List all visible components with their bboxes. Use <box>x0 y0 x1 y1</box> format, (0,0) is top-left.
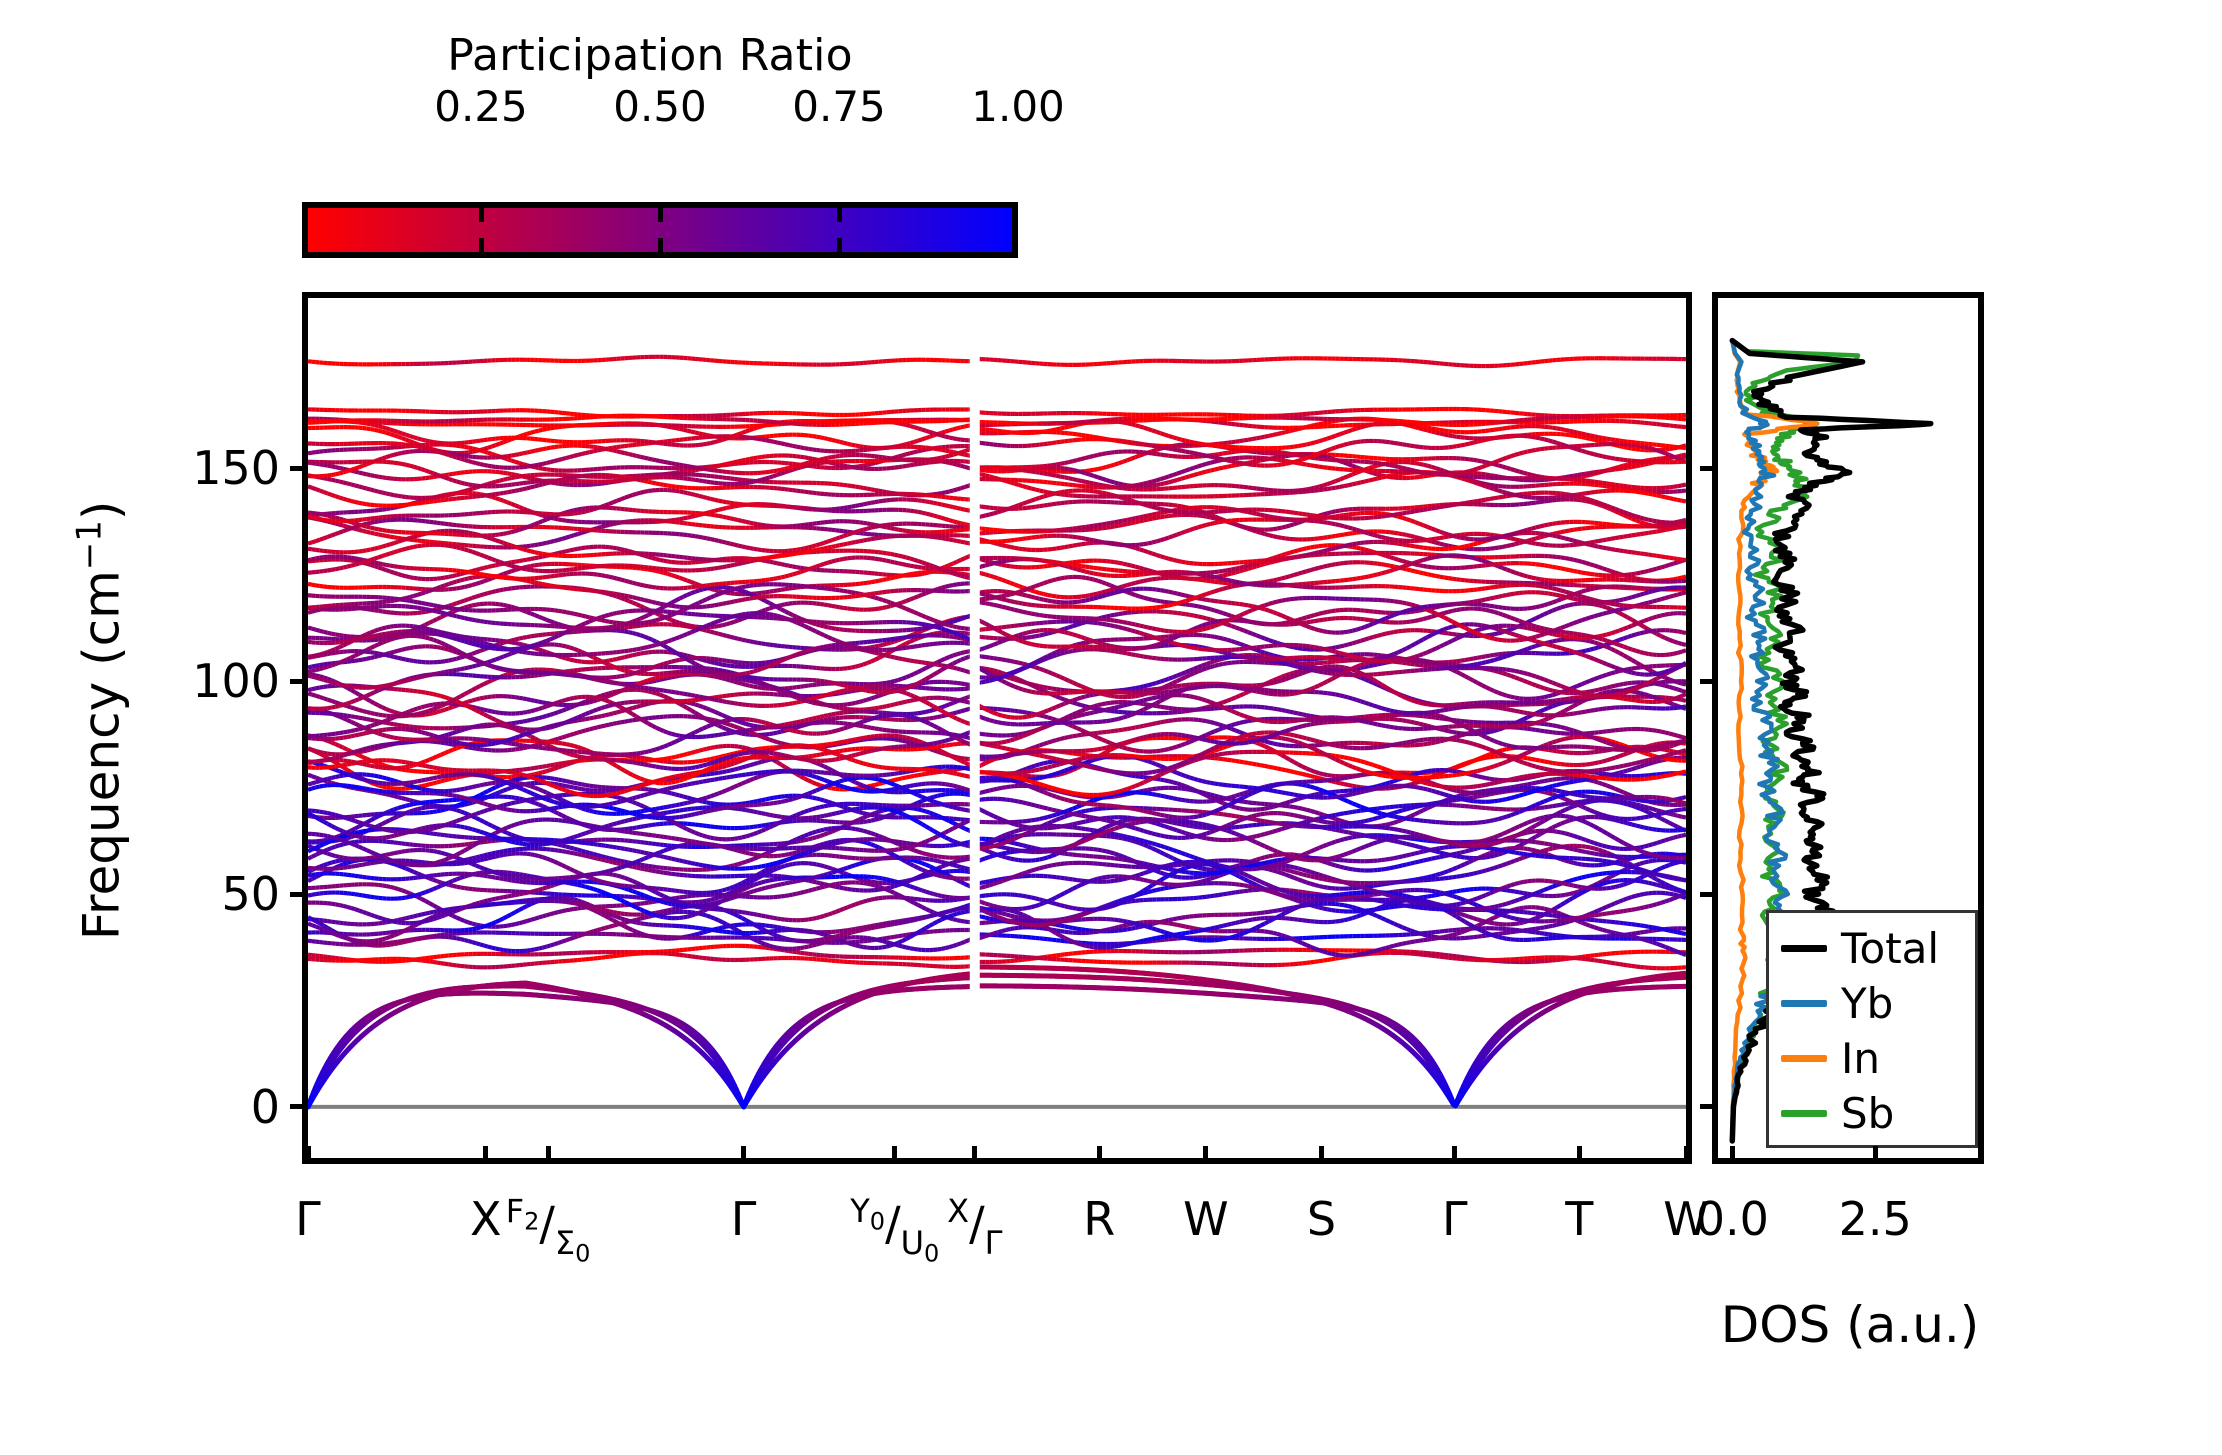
kpath-tick-label: X <box>470 1192 502 1246</box>
legend-label: Yb <box>1841 983 1893 1025</box>
kpath-tick-label: W <box>1183 1192 1228 1246</box>
x-axis-tick-mark <box>1452 1146 1457 1164</box>
legend-color-swatch <box>1781 1000 1827 1007</box>
y-axis-tick-label: 50 <box>130 867 280 921</box>
phonon-band <box>977 358 1686 366</box>
legend-color-swatch <box>1781 1110 1827 1117</box>
dos-y-axis-tick-mark <box>1700 892 1718 897</box>
kpath-tick-label: Γ <box>295 1192 321 1246</box>
band-structure-axes <box>302 292 1692 1164</box>
x-axis-tick-mark <box>1319 1146 1324 1164</box>
y-axis-tick-mark <box>290 679 308 684</box>
x-axis-tick-mark <box>306 1146 311 1164</box>
kpath-tick-label: Y0/U0 <box>850 1192 939 1267</box>
x-axis-tick-mark <box>1684 1146 1689 1164</box>
y-axis-tick-label: 0 <box>130 1080 280 1134</box>
kpath-tick-label: X/Γ <box>947 1192 1002 1262</box>
kpath-tick-label: T <box>1565 1192 1593 1246</box>
y-axis-tick-mark <box>290 466 308 471</box>
colorbar-tick-mark <box>837 238 842 252</box>
y-axis-label: Frequency (cm−1) <box>70 320 131 1120</box>
kpath-tick-label: F2/Σ0 <box>506 1192 591 1267</box>
kpath-tick-label: S <box>1307 1192 1336 1246</box>
legend-label: Total <box>1841 928 1939 970</box>
x-axis-tick-mark <box>1097 1146 1102 1164</box>
legend-item[interactable]: Total <box>1769 921 1975 976</box>
colorbar-tick-mark <box>658 208 663 222</box>
dos-x-axis-tick-mark <box>1730 1146 1735 1164</box>
y-axis-tick-label: 150 <box>130 441 280 495</box>
figure-canvas: Participation Ratio 0.250.500.751.00 Fre… <box>0 0 2222 1455</box>
dos-y-axis-tick-mark <box>1700 679 1718 684</box>
dos-x-axis-tick-label: 2.5 <box>1839 1192 1912 1246</box>
x-axis-tick-mark <box>972 1146 977 1164</box>
dos-x-axis-tick-label: 0.0 <box>1696 1192 1769 1246</box>
legend-label: In <box>1841 1038 1880 1080</box>
x-axis-tick-mark <box>892 1146 897 1164</box>
colorbar <box>302 202 1018 258</box>
colorbar-tick-label: 1.00 <box>971 82 1065 131</box>
dos-x-axis-label: DOS (a.u.) <box>1600 1296 2100 1354</box>
dos-x-axis-tick-mark <box>1873 1146 1878 1164</box>
kpath-discontinuity-gap <box>970 298 980 1098</box>
y-axis-tick-mark <box>290 1104 308 1109</box>
colorbar-tick-label: 0.75 <box>792 82 886 131</box>
colorbar-tick-label: 0.25 <box>434 82 528 131</box>
colorbar-tick-mark <box>837 208 842 222</box>
kpath-tick-label: Γ <box>731 1192 757 1246</box>
x-axis-tick-mark <box>1577 1146 1582 1164</box>
phonon-band <box>977 409 1686 416</box>
kpath-tick-label: Γ <box>1442 1192 1468 1246</box>
x-axis-tick-mark <box>741 1146 746 1164</box>
colorbar-tick-labels: 0.250.500.751.00 <box>300 82 1020 132</box>
x-axis-tick-mark <box>1203 1146 1208 1164</box>
legend-item[interactable]: In <box>1769 1031 1975 1086</box>
legend-item[interactable]: Sb <box>1769 1086 1975 1141</box>
dos-legend: TotalYbInSb <box>1766 910 1978 1148</box>
acoustic-branch <box>308 978 973 1107</box>
colorbar-tick-mark <box>479 208 484 222</box>
y-axis-tick-label: 100 <box>130 654 280 708</box>
x-axis-tick-mark <box>483 1146 488 1164</box>
legend-item[interactable]: Yb <box>1769 976 1975 1031</box>
dos-y-axis-tick-mark <box>1700 466 1718 471</box>
x-axis-tick-mark <box>546 1146 551 1164</box>
colorbar-tick-mark <box>479 238 484 252</box>
acoustic-branch <box>977 986 1686 1105</box>
legend-color-swatch <box>1781 1055 1827 1062</box>
dos-y-axis-tick-mark <box>1700 1104 1718 1109</box>
colorbar-tick-label: 0.50 <box>613 82 707 131</box>
phonon-band <box>308 357 973 365</box>
legend-color-swatch <box>1781 945 1827 952</box>
y-axis-tick-mark <box>290 892 308 897</box>
colorbar-title: Participation Ratio <box>300 30 1000 81</box>
band-structure-plot <box>308 298 1686 1158</box>
kpath-tick-label: R <box>1083 1192 1115 1246</box>
legend-label: Sb <box>1841 1093 1894 1135</box>
colorbar-tick-mark <box>658 238 663 252</box>
